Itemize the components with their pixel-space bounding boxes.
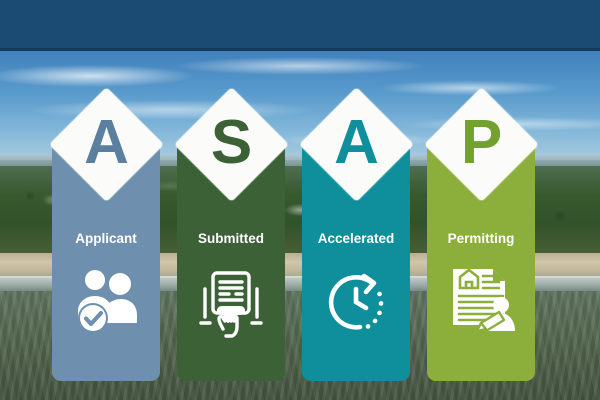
steps-container: Applicant A Submitted: [0, 0, 600, 400]
step-letter-s: S: [191, 104, 272, 185]
step-label-applicant: Applicant: [52, 231, 160, 246]
clock-arrow-icon: [318, 263, 394, 339]
step-label-submitted: Submitted: [177, 231, 285, 246]
asap-permit-infographic: Use the Portal to Get Your Permit... App…: [0, 0, 600, 400]
people-check-icon: [68, 263, 144, 339]
step-letter-a2: A: [316, 104, 397, 185]
step-label-permitting: Permitting: [427, 231, 535, 246]
step-letter-a1: A: [66, 104, 147, 185]
step-diamond-permitting: P: [424, 87, 539, 202]
step-diamond-accelerated: A: [299, 87, 414, 202]
step-diamond-submitted: S: [174, 87, 289, 202]
header-divider: [0, 48, 600, 51]
header-bar: [0, 0, 600, 48]
step-letter-p: P: [441, 104, 522, 185]
permit-house-signing-icon: [443, 263, 519, 339]
document-hand-click-icon: [193, 263, 269, 339]
step-label-accelerated: Accelerated: [302, 231, 410, 246]
step-diamond-applicant: A: [49, 87, 164, 202]
